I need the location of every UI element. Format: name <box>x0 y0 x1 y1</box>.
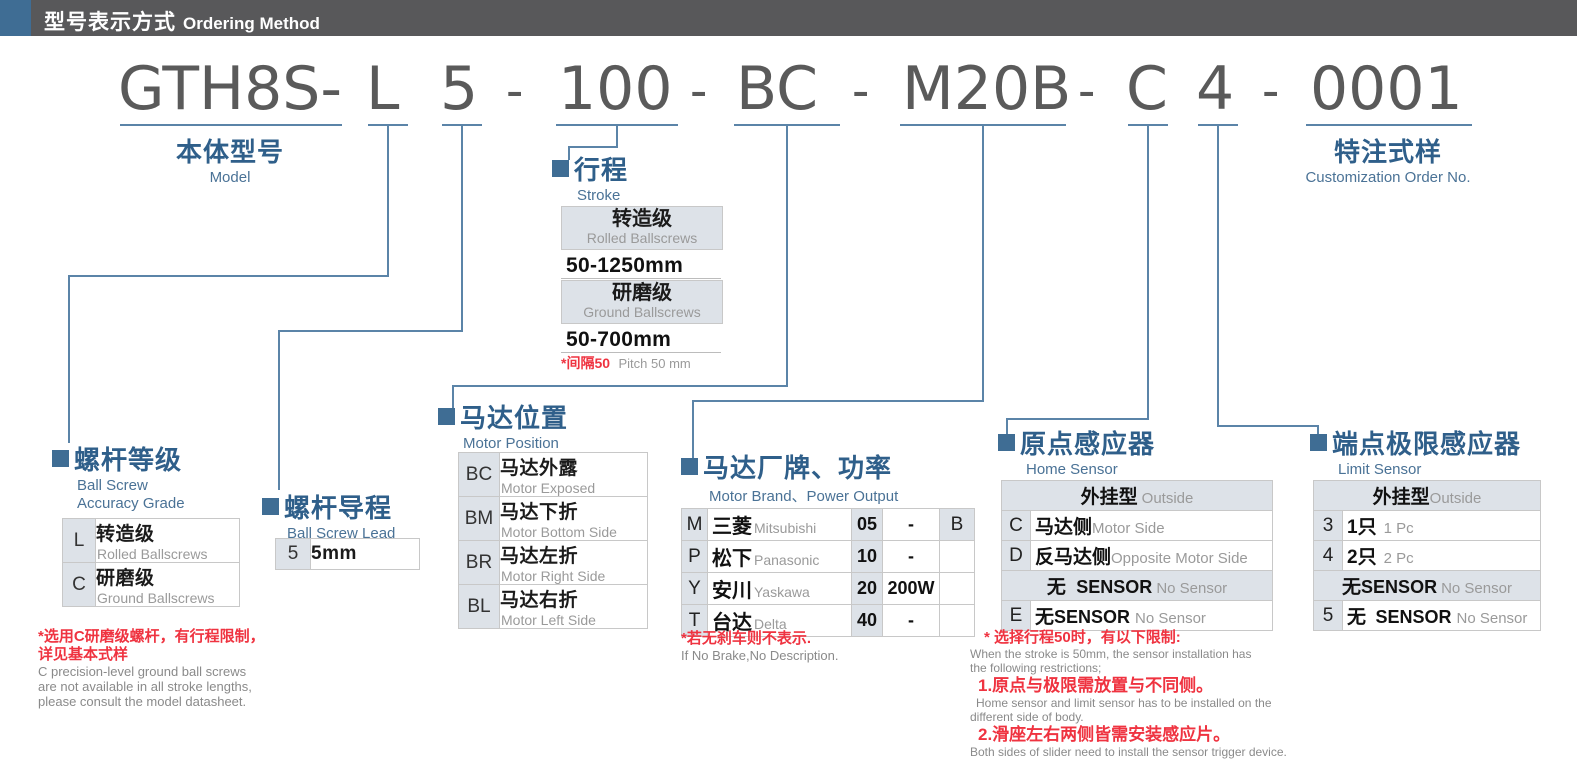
header-title-cn: 型号表示方式 <box>44 11 176 34</box>
grade-desc-l: 转造级 Rolled Ballscrews <box>96 519 240 563</box>
section-stroke-title-cn: 行程 <box>574 155 628 185</box>
power-code-20: 20 <box>852 573 883 605</box>
header-title-en: Ordering Method <box>183 14 320 33</box>
home-sensor-desc-d-en: Opposite Motor Side <box>1111 550 1248 567</box>
leader-lead-v2 <box>278 330 280 490</box>
page-header: 型号表示方式Ordering Method <box>0 0 1577 36</box>
section-model-title-en: Model <box>130 169 330 186</box>
table-row: L 转造级 Rolled Ballscrews <box>63 519 240 563</box>
section-customization-en: Customization Order No. <box>1288 169 1488 186</box>
table-row: 无SENSORNo Sensor <box>1314 571 1541 601</box>
limit-sensor-desc-3-en: 1 Pc <box>1384 520 1414 537</box>
home-sensor-desc-c-en: Motor Side <box>1092 520 1165 537</box>
stroke-group-rolled: 转造级 Rolled Ballscrews <box>561 206 723 250</box>
limit-sensor-code-5: 5 <box>1314 601 1343 631</box>
grade-note-red-2: 详见基本式样 <box>38 646 265 664</box>
home-note-red-1: * 选择行程50时，有以下限制: <box>984 628 1287 647</box>
grade-note-gray-1: C precision-level ground ball screws <box>38 664 265 679</box>
ballscrew-grade-table: L 转造级 Rolled Ballscrews C 研磨级 Ground Bal… <box>62 518 240 607</box>
section-customization: 特注式样 Customization Order No. <box>1288 132 1488 186</box>
home-sensor-desc-e-en: No Sensor <box>1135 610 1206 627</box>
motorpos-desc-br: 马达左折 Motor Right Side <box>500 541 648 585</box>
leader-lead-v1 <box>461 124 463 332</box>
table-row: E 无SENSORNo Sensor <box>1002 601 1273 631</box>
section-limit-sensor-title: 端点极限感应器 Limit Sensor <box>1310 424 1521 478</box>
model-dash-4: - <box>1078 59 1095 123</box>
home-sensor-band-outside: 外挂型Outside <box>1002 481 1273 511</box>
section-home-sensor-en: Home Sensor <box>1026 461 1155 478</box>
bullet-square-icon <box>262 498 279 515</box>
grade-note-red-1: *选用C研磨级螺杆，有行程限制， <box>38 628 265 646</box>
section-motor-brand-title: 马达厂牌、功率 Motor Brand、Power Output <box>681 448 898 506</box>
brake-cell-empty-2 <box>940 573 975 605</box>
power-value-05: - <box>883 509 940 541</box>
home-note-gray-1a: When the stroke is 50mm, the sensor inst… <box>970 647 1287 661</box>
section-model-title-cn: 本体型号 <box>130 132 330 169</box>
lead-value-5-cell: 5mm <box>311 539 420 570</box>
limit-sensor-desc-4-cn: 2只 <box>1347 547 1377 568</box>
bullet-square-icon <box>438 408 455 425</box>
lead-value-5: 5mm <box>311 543 357 564</box>
limit-sensor-desc-5-cn: 无 <box>1347 607 1366 628</box>
model-dash-3: - <box>852 59 869 123</box>
section-stroke-title-en: Stroke <box>577 187 628 204</box>
table-row: 外挂型Outside <box>1314 481 1541 511</box>
motorpos-desc-bc-en: Motor Exposed <box>501 480 647 496</box>
stroke-range-rolled: 50-1250mm <box>566 254 683 278</box>
model-seg-custom: 0001 <box>1310 57 1463 121</box>
home-note-gray-1b: the following restrictions; <box>970 661 1287 675</box>
bullet-square-icon <box>998 434 1015 451</box>
brand-name-p-cn: 松下 <box>712 548 752 570</box>
brand-note-gray: If No Brake,No Description. <box>681 648 839 663</box>
motorpos-desc-bm-cn: 马达下折 <box>500 497 647 524</box>
motorpos-desc-bm: 马达下折 Motor Bottom Side <box>500 497 648 541</box>
section-motor-brand-en: Motor Brand、Power Output <box>709 485 898 506</box>
home-sensor-band-outside-en: Outside <box>1142 490 1194 507</box>
section-ballscrew-lead-cn: 螺杆导程 <box>284 493 392 523</box>
grade-desc-c-en: Ground Ballscrews <box>97 590 239 606</box>
ballscrew-lead-table: 5 5mm <box>275 538 420 570</box>
motor-brand-note: *若无刹车则不表示. If No Brake,No Description. <box>681 630 839 663</box>
section-motor-brand-cn: 马达厂牌、功率 <box>703 453 892 483</box>
leader-stroke-h <box>568 146 618 148</box>
leader-homesensor-v1 <box>1147 124 1149 420</box>
limit-sensor-code-4: 4 <box>1314 541 1343 571</box>
section-home-sensor-cn: 原点感应器 <box>1020 429 1155 459</box>
home-sensor-note: * 选择行程50时，有以下限制: When the stroke is 50mm… <box>970 628 1287 759</box>
model-seg-motorpos: BC <box>736 57 818 121</box>
home-sensor-band-outside-cn: 外挂型 <box>1081 487 1138 508</box>
table-row: 5 5mm <box>276 539 420 570</box>
motorpos-code-br: BR <box>459 541 500 585</box>
table-row: 外挂型Outside <box>1002 481 1273 511</box>
model-seg-limitsensor: 4 <box>1196 57 1234 121</box>
motorpos-desc-bl: 马达右折 Motor Left Side <box>500 585 648 629</box>
section-ballscrew-grade-cn: 螺杆等级 <box>74 445 182 475</box>
leader-motorpos-h <box>452 385 788 387</box>
motorpos-code-bl: BL <box>459 585 500 629</box>
power-code-40: 40 <box>852 605 883 637</box>
table-row: P 松下Panasonic 10 - <box>682 541 975 573</box>
section-ballscrew-lead-title: 螺杆导程 Ball Screw Lead <box>262 488 395 542</box>
model-dash-2: - <box>690 59 707 123</box>
limit-sensor-band-nosensor-bold: SENSOR <box>1361 577 1437 597</box>
limit-sensor-desc-5-en: No Sensor <box>1457 610 1528 627</box>
grade-note-gray-3: please consult the model datasheet. <box>38 694 265 709</box>
stroke-group-ground-en: Ground Ballscrews <box>562 304 722 320</box>
section-limit-sensor-en: Limit Sensor <box>1338 461 1521 478</box>
home-sensor-desc-e: 无SENSORNo Sensor <box>1031 601 1273 631</box>
lead-code-5: 5 <box>276 539 311 570</box>
home-note-red-2: 1.原点与极限需放置与不同侧。 <box>978 675 1287 696</box>
stroke-range-ground: 50-700mm <box>566 328 671 352</box>
home-sensor-band-nosensor-en: No Sensor <box>1156 580 1227 597</box>
home-sensor-desc-c-cn: 马达侧 <box>1035 517 1092 538</box>
motorpos-desc-bc-cn: 马达外露 <box>500 453 647 480</box>
brand-name-y: 安川Yaskawa <box>708 573 852 605</box>
model-seg-motorbrand: M20B <box>902 57 1071 121</box>
table-row: M 三菱Mitsubishi 05 - B <box>682 509 975 541</box>
stroke-group-rolled-en: Rolled Ballscrews <box>562 230 722 246</box>
grade-desc-c: 研磨级 Ground Ballscrews <box>96 563 240 607</box>
table-row: 3 1只1 Pc <box>1314 511 1541 541</box>
limit-sensor-desc-4-en: 2 Pc <box>1384 550 1414 567</box>
bullet-square-icon <box>1310 434 1327 451</box>
home-sensor-code-d: D <box>1002 541 1031 571</box>
stroke-group-ground-cn: 研磨级 <box>562 281 722 304</box>
model-seg-lead: 5 <box>440 57 478 121</box>
motorpos-desc-br-cn: 马达左折 <box>500 541 647 568</box>
limit-sensor-band-outside-cn: 外挂型 <box>1373 487 1430 508</box>
section-model: 本体型号 Model <box>130 132 330 186</box>
leader-grade-v2 <box>68 275 70 443</box>
header-accent-block <box>0 0 31 36</box>
leader-grade-h <box>68 275 389 277</box>
power-value-10: - <box>883 541 940 573</box>
home-sensor-desc-e-bold: SENSOR <box>1054 607 1130 627</box>
brake-code-b: B <box>940 509 975 541</box>
table-row: C 研磨级 Ground Ballscrews <box>63 563 240 607</box>
brand-name-m: 三菱Mitsubishi <box>708 509 852 541</box>
table-row: 5 无 SENSORNo Sensor <box>1314 601 1541 631</box>
leader-motorpos-v1 <box>786 124 788 386</box>
power-value-20: 200W <box>883 573 940 605</box>
brand-code-p: P <box>682 541 708 573</box>
table-row: C 马达侧Motor Side <box>1002 511 1273 541</box>
stroke-group-rolled-cn: 转造级 <box>562 207 722 230</box>
home-sensor-desc-d-cn: 反马达侧 <box>1035 547 1111 568</box>
model-string: GTH8S- L 5 - 100 - BC - M20B - C 4 - 000… <box>0 57 1577 123</box>
leader-lead-h <box>278 330 463 332</box>
section-motor-position-title: 马达位置 Motor Position <box>438 398 568 452</box>
bullet-square-icon <box>552 160 569 177</box>
brand-name-y-cn: 安川 <box>712 580 752 602</box>
model-dash-5: - <box>1262 59 1279 123</box>
bullet-square-icon <box>52 450 69 467</box>
limit-sensor-band-outside: 外挂型Outside <box>1314 481 1541 511</box>
brand-name-p-en: Panasonic <box>754 552 819 568</box>
limit-sensor-table: 外挂型Outside 3 1只1 Pc 4 2只2 Pc 无SENSORNo S… <box>1313 480 1541 631</box>
motorpos-desc-bl-cn: 马达右折 <box>500 585 647 612</box>
leader-motorbrand-h <box>692 400 984 402</box>
motorpos-desc-bm-en: Motor Bottom Side <box>501 524 647 540</box>
power-value-40: - <box>883 605 940 637</box>
home-note-gray-3: Both sides of slider need to install the… <box>970 745 1287 759</box>
brand-name-p: 松下Panasonic <box>708 541 852 573</box>
brake-cell-empty-1 <box>940 541 975 573</box>
model-seg-grade: L <box>366 57 399 121</box>
underline-custom <box>1306 124 1472 126</box>
ordering-method-diagram: 型号表示方式Ordering Method GTH8S- L 5 - 100 -… <box>0 0 1577 742</box>
section-motor-position-en: Motor Position <box>463 435 568 452</box>
leader-grade-v1 <box>387 124 389 276</box>
ballscrew-grade-note: *选用C研磨级螺杆，有行程限制， 详见基本式样 C precision-leve… <box>38 628 265 709</box>
stroke-note-red: *间隔50 <box>561 355 610 371</box>
home-note-gray-2b: different side of body. <box>970 710 1287 724</box>
model-seg-body: GTH8S- <box>118 57 342 121</box>
grade-desc-l-en: Rolled Ballscrews <box>97 546 239 562</box>
motorpos-desc-bc: 马达外露 Motor Exposed <box>500 453 648 497</box>
section-stroke-title: 行程 Stroke <box>552 150 628 204</box>
limit-sensor-band-nosensor: 无SENSORNo Sensor <box>1314 571 1541 601</box>
home-sensor-band-nosensor-cn: 无 <box>1047 577 1066 598</box>
leader-limitsensor-v1 <box>1217 124 1219 427</box>
section-limit-sensor-cn: 端点极限感应器 <box>1332 429 1521 459</box>
table-row: BM 马达下折 Motor Bottom Side <box>459 497 648 541</box>
section-ballscrew-grade-en2: Accuracy Grade <box>77 495 185 513</box>
home-sensor-band-nosensor-bold: SENSOR <box>1076 577 1152 597</box>
limit-sensor-band-nosensor-en: No Sensor <box>1441 580 1512 597</box>
motor-position-table: BC 马达外露 Motor Exposed BM 马达下折 Motor Bott… <box>458 452 648 629</box>
stroke-note: *间隔50 Pitch 50 mm <box>561 353 691 373</box>
brand-code-m: M <box>682 509 708 541</box>
motorpos-desc-bl-en: Motor Left Side <box>501 612 647 628</box>
leader-homesensor-h <box>1006 418 1149 420</box>
limit-sensor-band-nosensor-cn: 无 <box>1342 577 1361 598</box>
limit-sensor-band-outside-en: Outside <box>1430 490 1482 507</box>
section-ballscrew-grade-title: 螺杆等级 Ball Screw Accuracy Grade <box>52 440 185 513</box>
home-sensor-code-c: C <box>1002 511 1031 541</box>
model-dash-1: - <box>506 59 523 123</box>
limit-sensor-desc-4: 2只2 Pc <box>1343 541 1541 571</box>
home-sensor-table: 外挂型Outside C 马达侧Motor Side D 反马达侧Opposit… <box>1001 480 1273 631</box>
limit-sensor-code-3: 3 <box>1314 511 1343 541</box>
section-customization-cn: 特注式样 <box>1288 132 1488 169</box>
section-ballscrew-grade-en1: Ball Screw <box>77 477 185 495</box>
limit-sensor-desc-5: 无 SENSORNo Sensor <box>1343 601 1541 631</box>
table-row: 4 2只2 Pc <box>1314 541 1541 571</box>
brand-name-y-en: Yaskawa <box>754 584 810 600</box>
section-home-sensor-title: 原点感应器 Home Sensor <box>998 424 1155 478</box>
home-sensor-code-e: E <box>1002 601 1031 631</box>
grade-code-c: C <box>63 563 96 607</box>
section-motor-position-cn: 马达位置 <box>460 403 568 433</box>
brand-name-m-cn: 三菱 <box>712 516 752 538</box>
header-title: 型号表示方式Ordering Method <box>44 6 320 36</box>
table-row: BL 马达右折 Motor Left Side <box>459 585 648 629</box>
grade-note-gray-2: are not available in all stroke lengths, <box>38 679 265 694</box>
underline-body <box>120 124 342 126</box>
stroke-group-ground: 研磨级 Ground Ballscrews <box>561 280 723 324</box>
table-row: BR 马达左折 Motor Right Side <box>459 541 648 585</box>
home-sensor-desc-d: 反马达侧Opposite Motor Side <box>1031 541 1273 571</box>
table-row: BC 马达外露 Motor Exposed <box>459 453 648 497</box>
grade-desc-l-cn: 转造级 <box>96 519 239 546</box>
motorpos-code-bm: BM <box>459 497 500 541</box>
table-row: D 反马达侧Opposite Motor Side <box>1002 541 1273 571</box>
leader-stroke-v1 <box>616 124 618 148</box>
model-seg-stroke: 100 <box>558 57 673 121</box>
leader-limitsensor-h <box>1217 425 1319 427</box>
power-code-05: 05 <box>852 509 883 541</box>
limit-sensor-desc-3-cn: 1只 <box>1347 517 1377 538</box>
table-row: 无 SENSORNo Sensor <box>1002 571 1273 601</box>
motorpos-desc-br-en: Motor Right Side <box>501 568 647 584</box>
stroke-divider-1 <box>561 278 721 279</box>
power-code-10: 10 <box>852 541 883 573</box>
limit-sensor-desc-5-bold: SENSOR <box>1375 607 1451 627</box>
bullet-square-icon <box>681 458 698 475</box>
leader-motorbrand-v1 <box>982 124 984 402</box>
brand-note-red: *若无刹车则不表示. <box>681 630 839 648</box>
home-note-gray-2a: Home sensor and limit sensor has to be i… <box>976 696 1287 710</box>
motor-brand-table: M 三菱Mitsubishi 05 - B P 松下Panasonic 10 -… <box>681 508 975 637</box>
table-row: Y 安川Yaskawa 20 200W <box>682 573 975 605</box>
home-sensor-desc-e-cn: 无 <box>1035 607 1054 628</box>
brand-name-m-en: Mitsubishi <box>754 520 816 536</box>
limit-sensor-desc-3: 1只1 Pc <box>1343 511 1541 541</box>
grade-code-l: L <box>63 519 96 563</box>
home-sensor-desc-c: 马达侧Motor Side <box>1031 511 1273 541</box>
motorpos-code-bc: BC <box>459 453 500 497</box>
grade-desc-c-cn: 研磨级 <box>96 563 239 590</box>
home-sensor-band-nosensor: 无 SENSORNo Sensor <box>1002 571 1273 601</box>
model-seg-homesensor: C <box>1126 57 1168 121</box>
brand-code-y: Y <box>682 573 708 605</box>
stroke-note-gray: Pitch 50 mm <box>618 356 690 371</box>
